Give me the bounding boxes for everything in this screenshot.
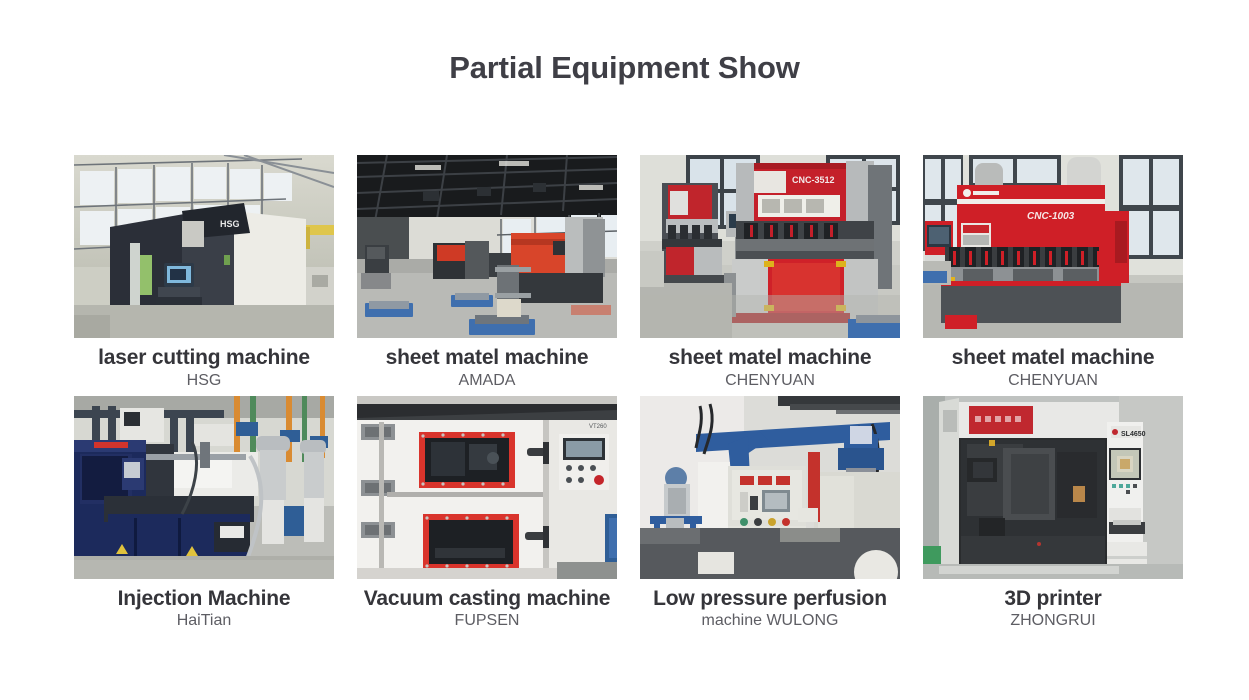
gallery-item[interactable]: Low pressure perfusion machine WULONG	[640, 396, 900, 631]
equipment-show-page: Partial Equipment Show	[0, 0, 1249, 700]
equipment-brand: CHENYUAN	[640, 371, 900, 390]
vacuum-casting-machine-photo[interactable]: 真空注型机 VT260	[357, 396, 617, 579]
low-pressure-perfusion-machine-photo[interactable]	[640, 396, 900, 579]
svg-text:CNC-1003: CNC-1003	[1027, 211, 1075, 222]
equipment-brand: CHENYUAN	[923, 371, 1183, 390]
gallery-item[interactable]: HSG laser cut	[74, 155, 334, 390]
equipment-brand: FUPSEN	[357, 611, 617, 630]
svg-text:VT260: VT260	[589, 424, 607, 430]
svg-text:HSG: HSG	[220, 219, 240, 229]
svg-text:SL4650: SL4650	[1121, 431, 1146, 438]
equipment-brand: ZHONGRUI	[923, 611, 1183, 630]
equipment-caption: laser cutting machine	[74, 346, 334, 370]
equipment-caption: sheet matel machine	[923, 346, 1183, 370]
sheet-metal-machine-chenyuan-photo-1[interactable]: CNC-3512	[640, 155, 900, 338]
equipment-brand: machine WULONG	[640, 611, 900, 630]
equipment-caption: Injection Machine	[74, 587, 334, 611]
equipment-brand: HaiTian	[74, 611, 334, 630]
page-title: Partial Equipment Show	[0, 50, 1249, 86]
gallery-item[interactable]: CNC-3512	[640, 155, 900, 390]
equipment-caption: 3D printer	[923, 587, 1183, 611]
gallery-item[interactable]: CNC-1003	[923, 155, 1183, 390]
equipment-caption: sheet matel machine	[640, 346, 900, 370]
3d-printer-photo[interactable]: SL4650	[923, 396, 1183, 579]
gallery-item[interactable]: sheet matel machine AMADA	[357, 155, 617, 390]
sheet-metal-machine-chenyuan-photo-2[interactable]: CNC-1003	[923, 155, 1183, 338]
equipment-brand: AMADA	[357, 371, 617, 390]
equipment-caption: Vacuum casting machine	[357, 587, 617, 611]
injection-machine-photo[interactable]	[74, 396, 334, 579]
gallery-item[interactable]: Injection Machine HaiTian	[74, 396, 334, 631]
equipment-caption: Low pressure perfusion	[640, 587, 900, 611]
laser-cutting-machine-photo[interactable]: HSG	[74, 155, 334, 338]
gallery-item[interactable]: 真空注型机 VT260	[357, 396, 617, 631]
equipment-brand: HSG	[74, 371, 334, 390]
gallery-item[interactable]: SL4650	[923, 396, 1183, 631]
sheet-metal-machine-amada-photo[interactable]	[357, 155, 617, 338]
svg-text:CNC-3512: CNC-3512	[792, 175, 835, 185]
equipment-gallery-grid: HSG laser cut	[74, 155, 1184, 630]
equipment-caption: sheet matel machine	[357, 346, 617, 370]
